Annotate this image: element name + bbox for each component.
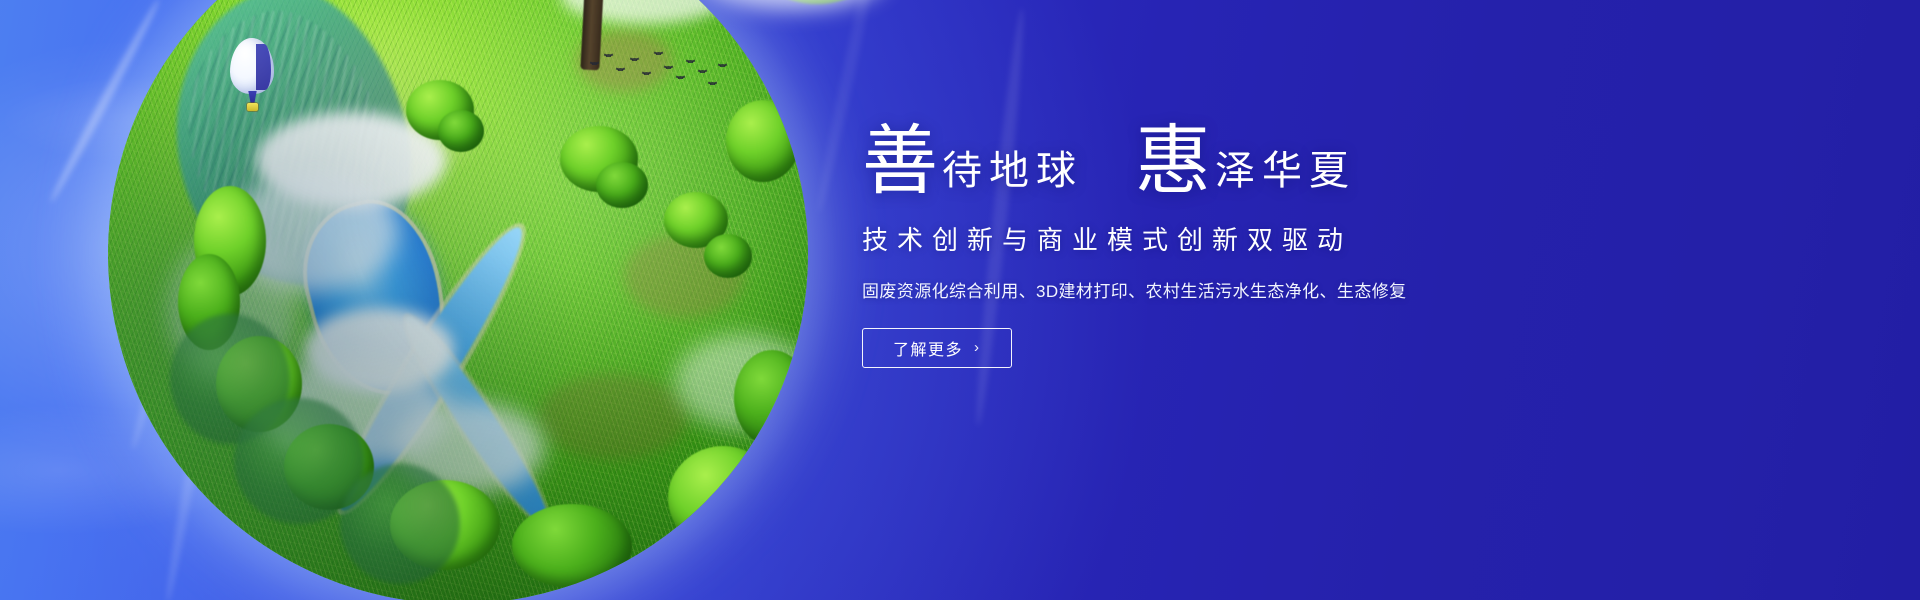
headline-lead-char-1: 善 <box>862 128 938 198</box>
bush <box>704 234 752 278</box>
bird-icon <box>618 68 623 71</box>
headline-rest-1: 待地球 <box>942 151 1083 198</box>
bird-icon <box>606 54 611 57</box>
headline-group-2: 惠 泽华夏 <box>1135 128 1356 198</box>
balloon-basket <box>247 103 258 111</box>
bush <box>734 350 808 446</box>
headline-rest-2: 泽华夏 <box>1215 151 1356 198</box>
hot-air-balloon <box>230 38 274 116</box>
bird-icon <box>700 70 705 73</box>
bird-flock <box>588 48 728 94</box>
headline-lead-char-2: 惠 <box>1135 128 1211 198</box>
bird-icon <box>666 66 671 69</box>
banner-subtitle: 技术创新与商业模式创新双驱动 <box>862 220 1562 257</box>
learn-more-label: 了解更多 <box>893 336 963 360</box>
bird-icon <box>644 72 649 75</box>
bird-icon <box>678 76 683 79</box>
banner-copy: 善 待地球 惠 泽华夏 技术创新与商业模式创新双驱动 固废资源化综合利用、3D建… <box>862 128 1562 368</box>
balloon-envelope <box>230 38 274 94</box>
cloud <box>698 0 888 10</box>
banner-description: 固废资源化综合利用、3D建材打印、农村生活污水生态净化、生态修复 <box>862 277 1562 302</box>
balloon-stripe <box>256 44 271 90</box>
bird-icon <box>592 62 597 65</box>
headline-group-1: 善 待地球 <box>862 128 1083 198</box>
bird-icon <box>720 64 725 67</box>
bush <box>512 504 632 588</box>
learn-more-button[interactable]: 了解更多 › <box>862 328 1012 368</box>
bird-icon <box>710 82 715 85</box>
bird-icon <box>632 58 637 61</box>
page-title: 善 待地球 惠 泽华夏 <box>862 128 1562 198</box>
bird-icon <box>656 52 661 55</box>
hero-banner: 善 待地球 惠 泽华夏 技术创新与商业模式创新双驱动 固废资源化综合利用、3D建… <box>0 0 1920 600</box>
bird-icon <box>688 60 693 63</box>
silhouette-tree <box>340 464 460 584</box>
bush <box>438 110 484 152</box>
bush <box>668 446 778 550</box>
bush <box>596 162 648 208</box>
chevron-right-icon: › <box>974 340 981 355</box>
